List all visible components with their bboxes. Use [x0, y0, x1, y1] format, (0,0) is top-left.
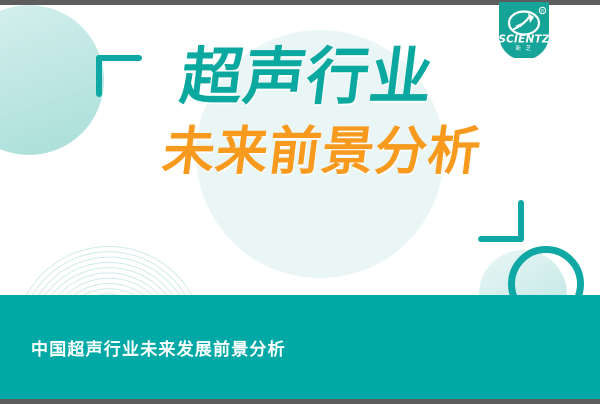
logo-sub-wordmark: 新 芝: [516, 44, 533, 52]
background-circle-decoration: [196, 30, 444, 278]
scientz-logo: R SCIENTZ 新 芝: [497, 2, 551, 57]
bottom-banner: 中国超声行业未来发展前景分析: [0, 295, 600, 399]
logo-wordmark: SCIENTZ: [498, 34, 549, 46]
bottom-frame-bar: [0, 399, 600, 404]
top-left-semicircle-decoration: [0, 5, 104, 155]
banner-subtitle: 中国超声行业未来发展前景分析: [31, 335, 286, 360]
title-slide: 超声行业 未来前景分析 R SCIENTZ 新 芝 中国超声行业未来发展前景分析: [0, 0, 600, 404]
close-bracket-icon: [478, 200, 524, 242]
svg-text:R: R: [541, 9, 544, 15]
open-bracket-icon: [96, 55, 142, 97]
